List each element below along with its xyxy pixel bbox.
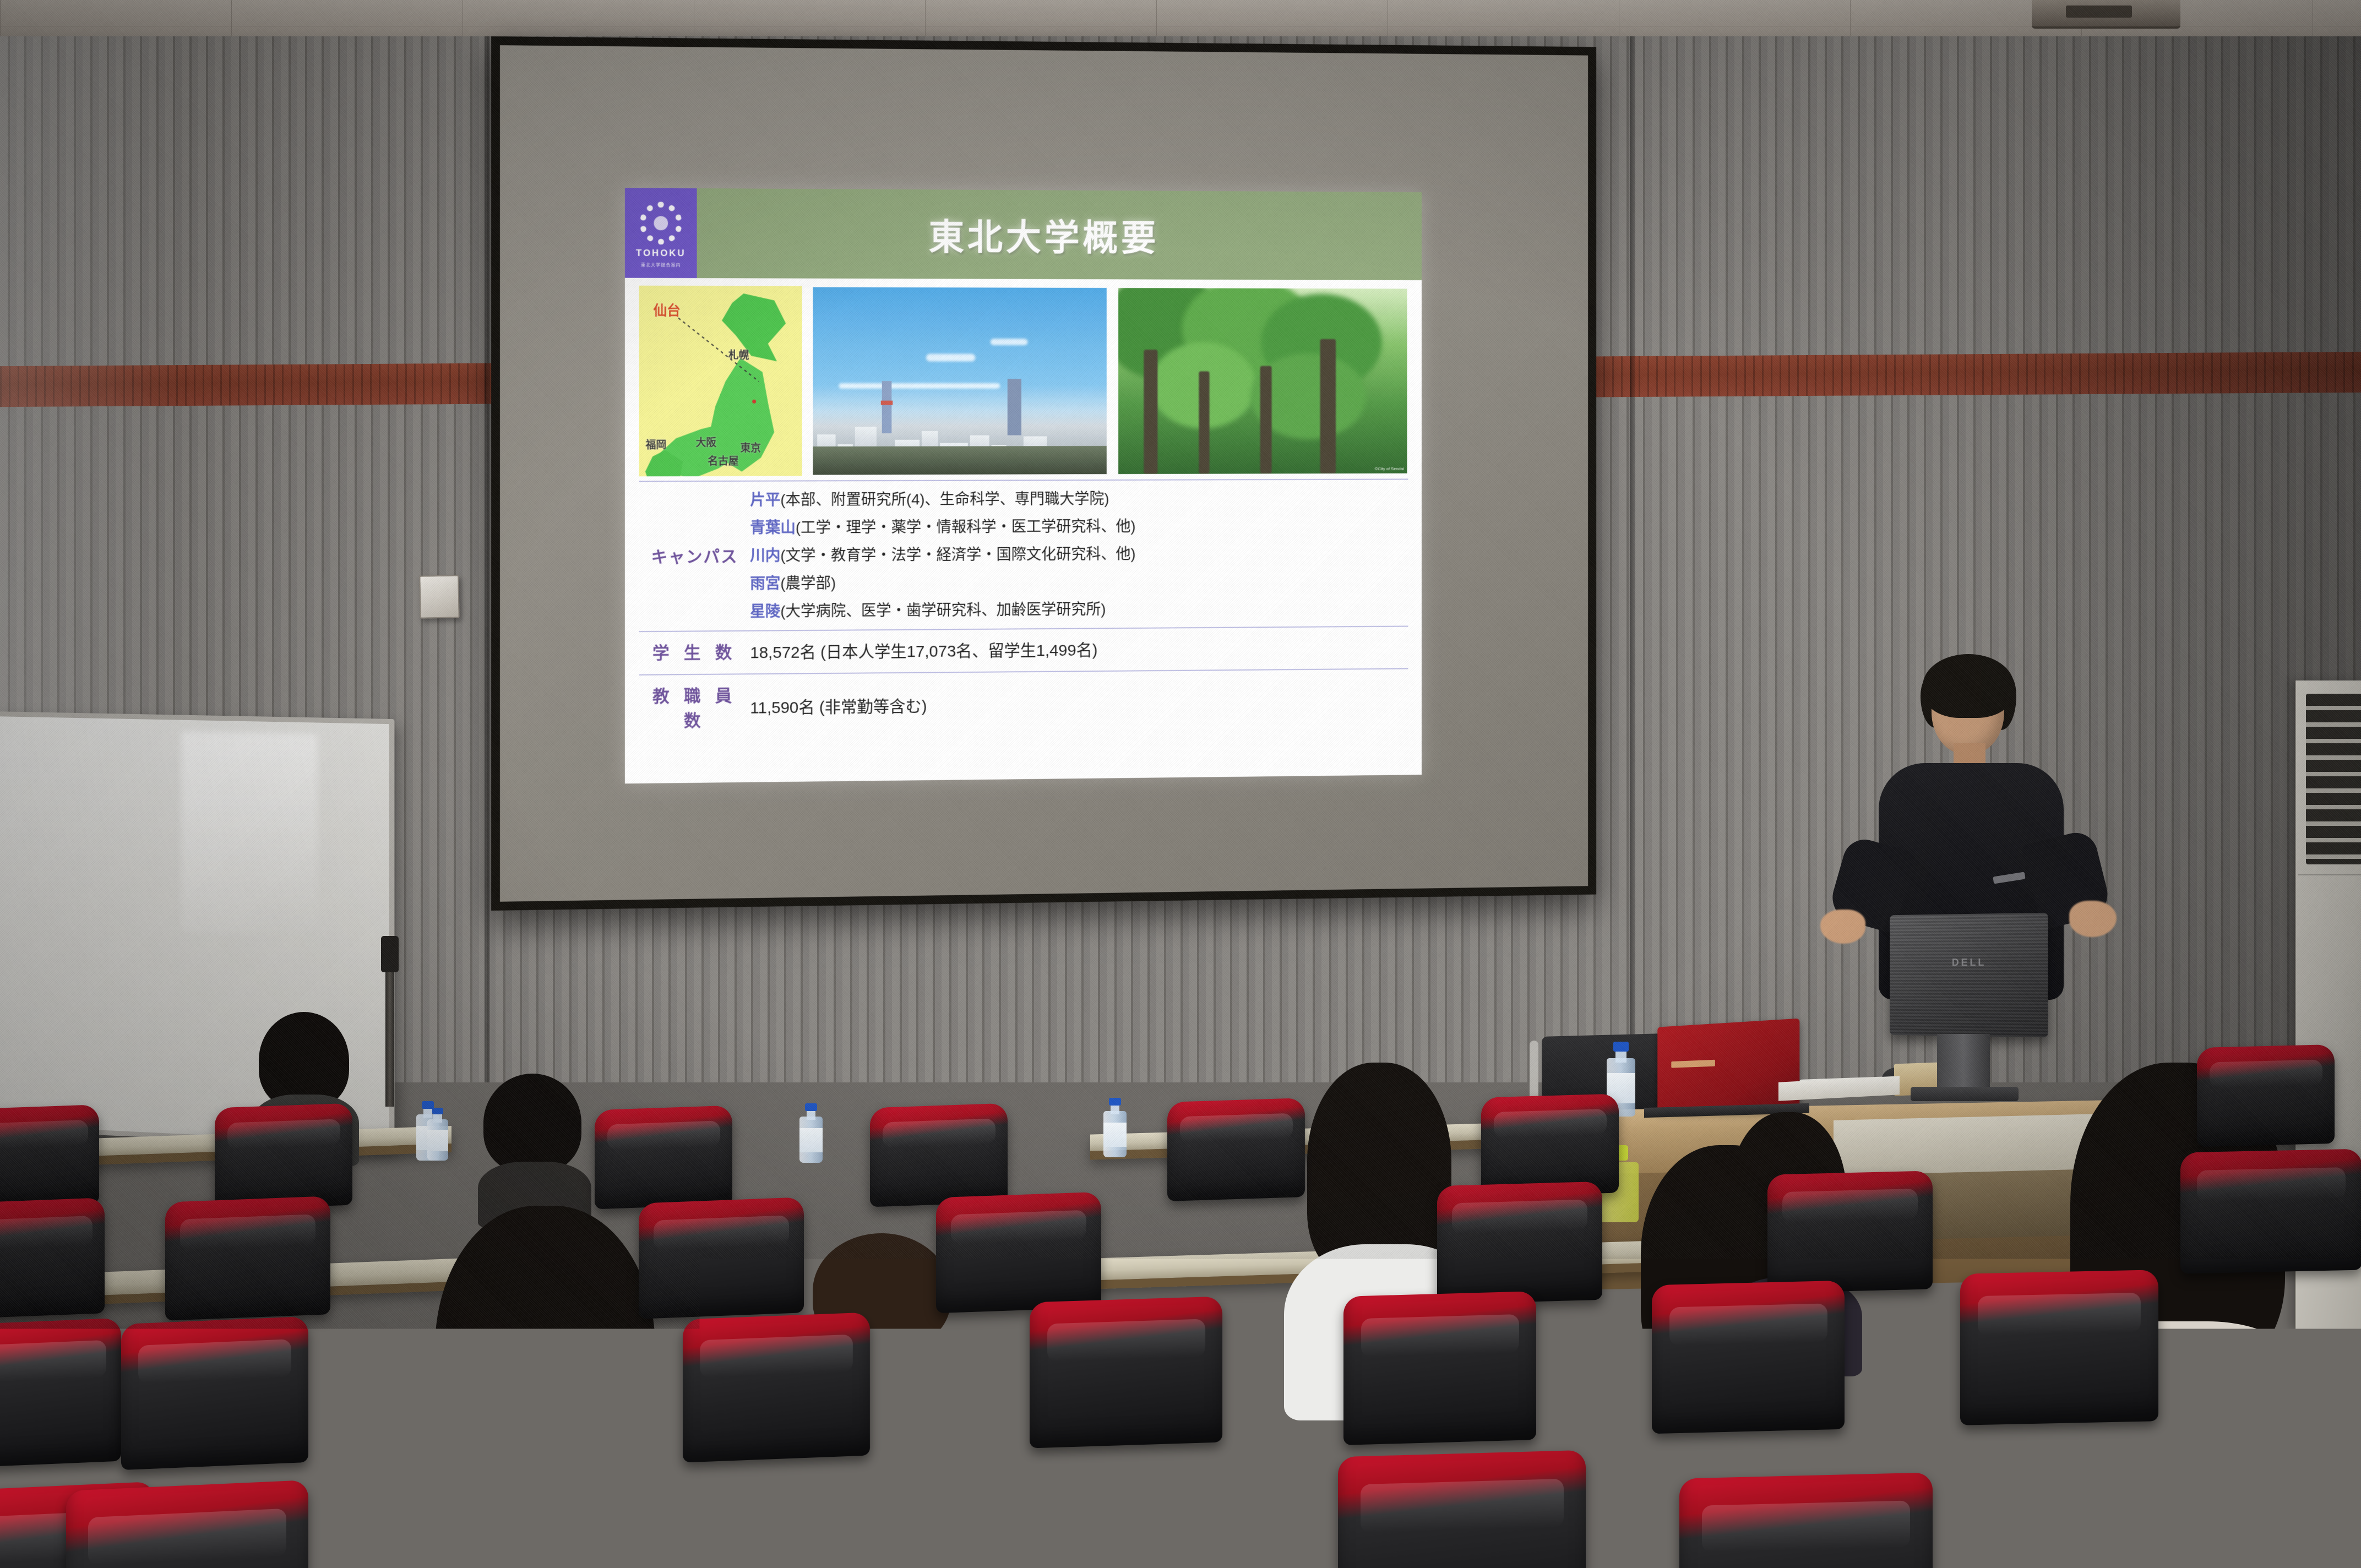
bottle-cap — [432, 1108, 443, 1114]
water-bottle[interactable] — [799, 1103, 823, 1163]
auditorium-seat[interactable] — [0, 1318, 121, 1468]
tower-band — [881, 401, 893, 405]
tv-tower — [882, 381, 892, 433]
tree-trunk — [1144, 350, 1157, 474]
slide-body: 仙台 札幌 福岡 大阪 東京 名古屋 — [625, 278, 1422, 784]
wall-seam — [485, 36, 490, 1082]
campus-detail: (農学部) — [780, 575, 836, 592]
student-count-value: 18,572名 (日本人学生17,073名、留学生1,499名) — [750, 634, 1408, 663]
aircon-panel-seam — [2298, 874, 2361, 875]
campus-section-label: キャンパス — [639, 543, 750, 568]
campus-detail: (大学病院、医学・歯学研究科、加齢医学研究所) — [780, 601, 1106, 619]
wreath-emblem-icon — [640, 202, 682, 244]
auditorium-seat[interactable] — [0, 1104, 99, 1208]
campus-name: 片平 — [750, 491, 780, 508]
logo-wordmark: TOHOKU — [636, 247, 686, 258]
foreground-treeline — [813, 446, 1106, 475]
map-label-sapporo: 札幌 — [728, 347, 749, 362]
projection-screen-surface: TOHOKU 東北大学総合案内 東北大学概要 — [500, 45, 1588, 902]
auditorium-seat[interactable] — [2197, 1044, 2335, 1147]
campus-section: キャンパス 片平(本部、附置研究所(4)、生命科学、専門職大学院) 青葉山(工学… — [639, 480, 1408, 627]
tohoku-university-logo: TOHOKU 東北大学総合案内 — [625, 188, 697, 278]
water-bottle[interactable] — [427, 1108, 448, 1161]
auditorium-seat[interactable] — [1167, 1098, 1305, 1201]
auditorium-seat[interactable] — [1343, 1291, 1536, 1445]
bottle-label — [799, 1128, 823, 1152]
sendai-cityscape-image — [812, 286, 1107, 476]
auditorium-seat[interactable] — [1437, 1182, 1602, 1304]
campus-list-item: 雨宮(農学部) — [750, 568, 1408, 594]
water-bottle[interactable] — [1103, 1098, 1127, 1157]
cloud — [926, 354, 976, 362]
auditorium-seat[interactable] — [936, 1192, 1101, 1313]
campus-list-item: 青葉山(工学・理学・薬学・情報科学・医工学研究科、他) — [750, 514, 1408, 538]
audience-member — [480, 1074, 585, 1206]
campus-name: 雨宮 — [750, 575, 780, 592]
whiteboard-adjust-knob[interactable] — [381, 936, 399, 972]
audience-member — [435, 1206, 666, 1568]
bottle-label — [1103, 1123, 1127, 1146]
smartphone[interactable] — [327, 1340, 365, 1396]
wall-seam — [1630, 36, 1635, 1082]
presenter-hair — [1923, 654, 2014, 718]
bottle-cap — [805, 1103, 817, 1111]
campus-detail: (工学・理学・薬学・情報科学・医工学研究科、他) — [796, 518, 1136, 536]
auditorium-seat[interactable] — [1030, 1297, 1222, 1449]
bottle-cap — [1613, 1042, 1628, 1052]
lecture-hall-scene: TOHOKU 東北大学総合案内 東北大学概要 — [0, 0, 2361, 1568]
whiteboard-glare — [181, 731, 318, 937]
person-shirt — [418, 1464, 677, 1568]
person-hair — [483, 1074, 581, 1173]
bottle-cap — [1109, 1098, 1121, 1106]
monitor-rear-panel — [1890, 913, 2048, 1038]
auditorium-seat[interactable] — [0, 1197, 105, 1319]
high-rise — [1008, 379, 1021, 435]
presenter-right-hand — [2069, 901, 2117, 937]
bottle-label — [427, 1130, 448, 1151]
tree-trunk — [1320, 339, 1336, 473]
auditorium-seat[interactable] — [1338, 1450, 1586, 1568]
auditorium-seat[interactable] — [771, 1471, 1013, 1568]
auditorium-seat[interactable] — [215, 1103, 352, 1210]
staff-count-value: 11,590名 (非常勤等含む) — [750, 688, 1408, 718]
monitor-brand-label: DELL — [1939, 957, 2000, 968]
student-count-row: 学 生 数 18,572名 (日本人学生17,073名、留学生1,499名) — [639, 627, 1408, 669]
campus-list-item: 星陵(大学病院、医学・歯学研究科、加齢医学研究所) — [750, 596, 1408, 622]
japan-map-image: 仙台 札幌 福岡 大阪 東京 名古屋 — [639, 286, 802, 477]
campus-name: 川内 — [750, 547, 780, 564]
student-count-label: 学 生 数 — [639, 639, 750, 664]
campus-detail: (文学・教育学・法学・経済学・国際文化研究科、他) — [780, 546, 1135, 564]
auditorium-seat[interactable] — [165, 1196, 330, 1321]
auditorium-seat[interactable] — [66, 1480, 308, 1568]
bottle-label — [1977, 1431, 2045, 1526]
wall-speaker — [419, 575, 459, 618]
auditorium-seat[interactable] — [595, 1106, 732, 1210]
auditorium-seat[interactable] — [639, 1197, 804, 1319]
monitor-base — [1911, 1087, 2019, 1101]
auditorium-seat[interactable] — [1767, 1170, 1933, 1293]
auditorium-seat[interactable] — [1679, 1472, 1933, 1568]
campus-list: 片平(本部、附置研究所(4)、生命科学、専門職大学院) 青葉山(工学・理学・薬学… — [750, 486, 1408, 622]
auditorium-seat[interactable] — [1652, 1281, 1845, 1434]
campus-name: 青葉山 — [750, 519, 796, 536]
auditorium-seat[interactable] — [121, 1316, 308, 1470]
campus-list-item: 片平(本部、附置研究所(4)、生命科学、専門職大学院) — [750, 486, 1408, 510]
campus-name: 星陵 — [750, 603, 780, 620]
photo-credit: ©City of Sendai — [1375, 466, 1404, 471]
auditorium-seat[interactable] — [870, 1103, 1008, 1207]
staff-count-label: 教 職 員 数 — [639, 682, 750, 732]
bottle-neck — [433, 1113, 442, 1123]
map-label-tokyo: 東京 — [741, 440, 761, 455]
map-label-fukuoka: 福岡 — [646, 437, 667, 452]
jozenji-dori-trees-image: ©City of Sendai — [1117, 287, 1408, 475]
campus-list-item: 川内(文学・教育学・法学・経済学・国際文化研究科、他) — [750, 541, 1408, 565]
projection-screen-frame: TOHOKU 東北大学総合案内 東北大学概要 — [491, 36, 1596, 911]
presentation-slide: TOHOKU 東北大学総合案内 東北大学概要 — [625, 188, 1422, 783]
tree-trunk — [1199, 371, 1209, 473]
auditorium-seat[interactable] — [2026, 1506, 2285, 1568]
slide-title: 東北大学概要 — [697, 188, 1422, 280]
slide-header: TOHOKU 東北大学総合案内 東北大学概要 — [625, 188, 1422, 280]
logo-subtitle: 東北大学総合案内 — [641, 262, 681, 268]
cloud — [991, 339, 1028, 345]
auditorium-seat[interactable] — [683, 1312, 870, 1462]
cloud-band — [839, 383, 1000, 389]
staff-count-row: 教 職 員 数 11,590名 (非常勤等含む) — [639, 669, 1408, 738]
campus-detail: (本部、附置研究所(4)、生命科学、専門職大学院) — [780, 491, 1109, 509]
tree-trunk — [1260, 366, 1272, 474]
aircon-vent-grill — [2306, 694, 2361, 864]
map-label-nagoya: 名古屋 — [708, 453, 738, 468]
map-label-sendai: 仙台 — [653, 300, 680, 320]
map-label-osaka: 大阪 — [696, 434, 717, 449]
photo-row: 仙台 札幌 福岡 大阪 東京 名古屋 — [639, 286, 1408, 477]
dell-monitor[interactable]: DELL — [1890, 913, 2048, 1038]
monitor-stand — [1937, 1034, 1990, 1091]
auditorium-seat[interactable] — [2180, 1149, 2361, 1274]
auditorium-seat[interactable] — [1960, 1270, 2158, 1425]
auditorium-seat[interactable] — [1481, 1094, 1619, 1197]
sendai-marker-dot — [752, 400, 756, 404]
presenter-left-hand — [1820, 910, 1865, 944]
ceiling-projector-mount — [2032, 0, 2180, 29]
